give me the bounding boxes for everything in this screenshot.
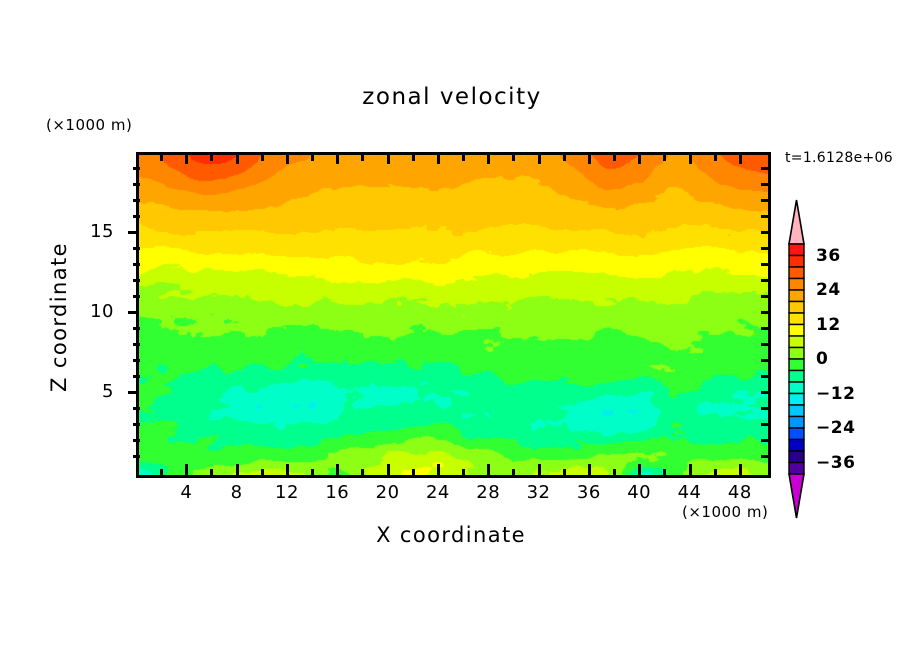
x-top-tick-mark [236, 155, 239, 164]
colorbar-band [789, 451, 804, 463]
y-minor-tick-mark [133, 183, 140, 186]
y-minor-tick-mark [133, 343, 140, 346]
x-tick-mark [638, 464, 641, 475]
y-right-tick-mark [761, 199, 768, 202]
colorbar-band [789, 382, 804, 394]
x-top-tick-mark [336, 155, 339, 164]
colorbar-band [789, 463, 804, 475]
colorbar-band [789, 417, 804, 429]
x-tick-label: 28 [468, 482, 508, 503]
x-tick-label: 12 [267, 482, 307, 503]
y-minor-tick-mark [133, 215, 140, 218]
contour-field [139, 155, 768, 475]
x-top-tick-mark [613, 155, 616, 161]
colorbar-tick-label: −36 [816, 453, 855, 473]
colorbar-band [789, 256, 804, 268]
x-tick-mark [538, 464, 541, 475]
y-tick-mark [128, 231, 139, 234]
colorbar-band [789, 428, 804, 440]
colorbar-band [789, 394, 804, 406]
x-top-tick-mark [462, 155, 465, 161]
y-tick-mark [128, 391, 139, 394]
y-right-tick-mark [761, 167, 768, 170]
y-tick-mark [128, 311, 139, 314]
x-minor-tick-mark [613, 469, 616, 475]
y-minor-tick-mark [133, 407, 140, 410]
x-minor-tick-mark [412, 469, 415, 475]
contour-plot-area[interactable] [136, 152, 771, 478]
x-top-tick-mark [387, 155, 390, 164]
colorbar-tick-label: 0 [816, 349, 828, 369]
x-tick-label: 48 [720, 482, 760, 503]
x-tick-label: 20 [368, 482, 408, 503]
y-right-tick-mark [761, 391, 770, 394]
y-right-tick-mark [761, 439, 768, 442]
colorbar-tick-label: −12 [816, 384, 855, 404]
colorbar-band [789, 290, 804, 302]
x-top-tick-mark [437, 155, 440, 164]
x-tick-mark [236, 464, 239, 475]
y-axis-label: Z coordinate [47, 217, 71, 417]
colorbar-band [789, 325, 804, 337]
y-minor-tick-mark [133, 279, 140, 282]
colorbar-band [789, 405, 804, 417]
colorbar-band [789, 267, 804, 279]
y-minor-tick-mark [133, 295, 140, 298]
x-minor-tick-mark [512, 469, 515, 475]
colorbar-tick-label: −24 [816, 418, 855, 438]
x-tick-mark [185, 464, 188, 475]
y-axis-units-label: (×1000 m) [46, 116, 132, 134]
y-right-tick-mark [761, 359, 768, 362]
x-top-tick-mark [412, 155, 415, 161]
x-tick-mark [487, 464, 490, 475]
x-top-tick-mark [512, 155, 515, 161]
x-top-tick-mark [563, 155, 566, 161]
y-right-tick-mark [761, 183, 768, 186]
x-top-tick-mark [261, 155, 264, 161]
x-tick-mark [689, 464, 692, 475]
y-tick-label: 15 [74, 221, 114, 242]
x-top-tick-mark [588, 155, 591, 164]
y-right-tick-mark [761, 423, 768, 426]
y-minor-tick-mark [133, 423, 140, 426]
x-tick-label: 36 [569, 482, 609, 503]
y-minor-tick-mark [133, 359, 140, 362]
x-tick-mark [336, 464, 339, 475]
colorbar-band [789, 302, 804, 314]
y-right-tick-mark [761, 247, 768, 250]
x-top-tick-mark [663, 155, 666, 161]
x-minor-tick-mark [311, 469, 314, 475]
x-tick-label: 16 [317, 482, 357, 503]
y-tick-label: 10 [74, 301, 114, 322]
x-tick-label: 44 [670, 482, 710, 503]
colorbar-swatches [781, 198, 811, 520]
y-right-tick-mark [761, 231, 770, 234]
x-tick-label: 24 [418, 482, 458, 503]
y-minor-tick-mark [133, 439, 140, 442]
y-minor-tick-mark [133, 455, 140, 458]
colorbar-under-cap [789, 474, 804, 518]
x-top-tick-mark [714, 155, 717, 161]
x-top-tick-mark [689, 155, 692, 164]
colorbar-band [789, 440, 804, 452]
x-axis-units-label: (×1000 m) [682, 503, 768, 521]
y-right-tick-mark [761, 295, 768, 298]
y-right-tick-mark [761, 311, 770, 314]
y-minor-tick-mark [133, 247, 140, 250]
colorbar-band [789, 359, 804, 371]
colorbar-tick-label: 24 [816, 280, 841, 300]
colorbar-band [789, 336, 804, 348]
x-minor-tick-mark [160, 469, 163, 475]
y-right-tick-mark [761, 263, 768, 266]
x-top-tick-mark [185, 155, 188, 164]
colorbar-tick-label: 36 [816, 246, 841, 266]
colorbar-band [789, 371, 804, 383]
colorbar-tick-label: 12 [816, 315, 841, 335]
x-tick-label: 32 [519, 482, 559, 503]
y-tick-label: 5 [74, 381, 114, 402]
colorbar-band [789, 348, 804, 360]
y-minor-tick-mark [133, 167, 140, 170]
y-right-tick-mark [761, 279, 768, 282]
x-tick-mark [387, 464, 390, 475]
x-minor-tick-mark [261, 469, 264, 475]
y-right-tick-mark [761, 343, 768, 346]
x-minor-tick-mark [462, 469, 465, 475]
colorbar-band [789, 279, 804, 291]
x-top-tick-mark [739, 155, 742, 164]
colorbar-band [789, 313, 804, 325]
x-tick-mark [588, 464, 591, 475]
x-top-tick-mark [210, 155, 213, 161]
colorbar-band [789, 244, 804, 256]
y-right-tick-mark [761, 375, 768, 378]
x-top-tick-mark [286, 155, 289, 164]
x-minor-tick-mark [210, 469, 213, 475]
y-right-tick-mark [761, 327, 768, 330]
x-top-tick-mark [538, 155, 541, 164]
x-tick-mark [437, 464, 440, 475]
y-minor-tick-mark [133, 327, 140, 330]
x-top-tick-mark [638, 155, 641, 164]
x-top-tick-mark [361, 155, 364, 161]
colorbar[interactable] [781, 198, 811, 520]
colorbar-over-cap [789, 200, 804, 244]
x-axis-label: X coordinate [136, 523, 766, 547]
y-minor-tick-mark [133, 375, 140, 378]
x-minor-tick-mark [663, 469, 666, 475]
x-tick-label: 4 [166, 482, 206, 503]
figure-canvas: zonal velocity (×1000 m) Z coordinate t=… [0, 0, 904, 654]
y-minor-tick-mark [133, 263, 140, 266]
x-top-tick-mark [311, 155, 314, 161]
x-minor-tick-mark [361, 469, 364, 475]
y-right-tick-mark [761, 215, 768, 218]
time-annotation: t=1.6128e+06 [785, 150, 893, 166]
x-minor-tick-mark [563, 469, 566, 475]
x-tick-label: 40 [619, 482, 659, 503]
y-right-tick-mark [761, 455, 768, 458]
page-title: zonal velocity [0, 84, 904, 110]
y-right-tick-mark [761, 407, 768, 410]
x-tick-mark [739, 464, 742, 475]
x-tick-label: 8 [217, 482, 257, 503]
x-minor-tick-mark [714, 469, 717, 475]
x-top-tick-mark [487, 155, 490, 164]
y-minor-tick-mark [133, 199, 140, 202]
x-top-tick-mark [160, 155, 163, 161]
x-tick-mark [286, 464, 289, 475]
